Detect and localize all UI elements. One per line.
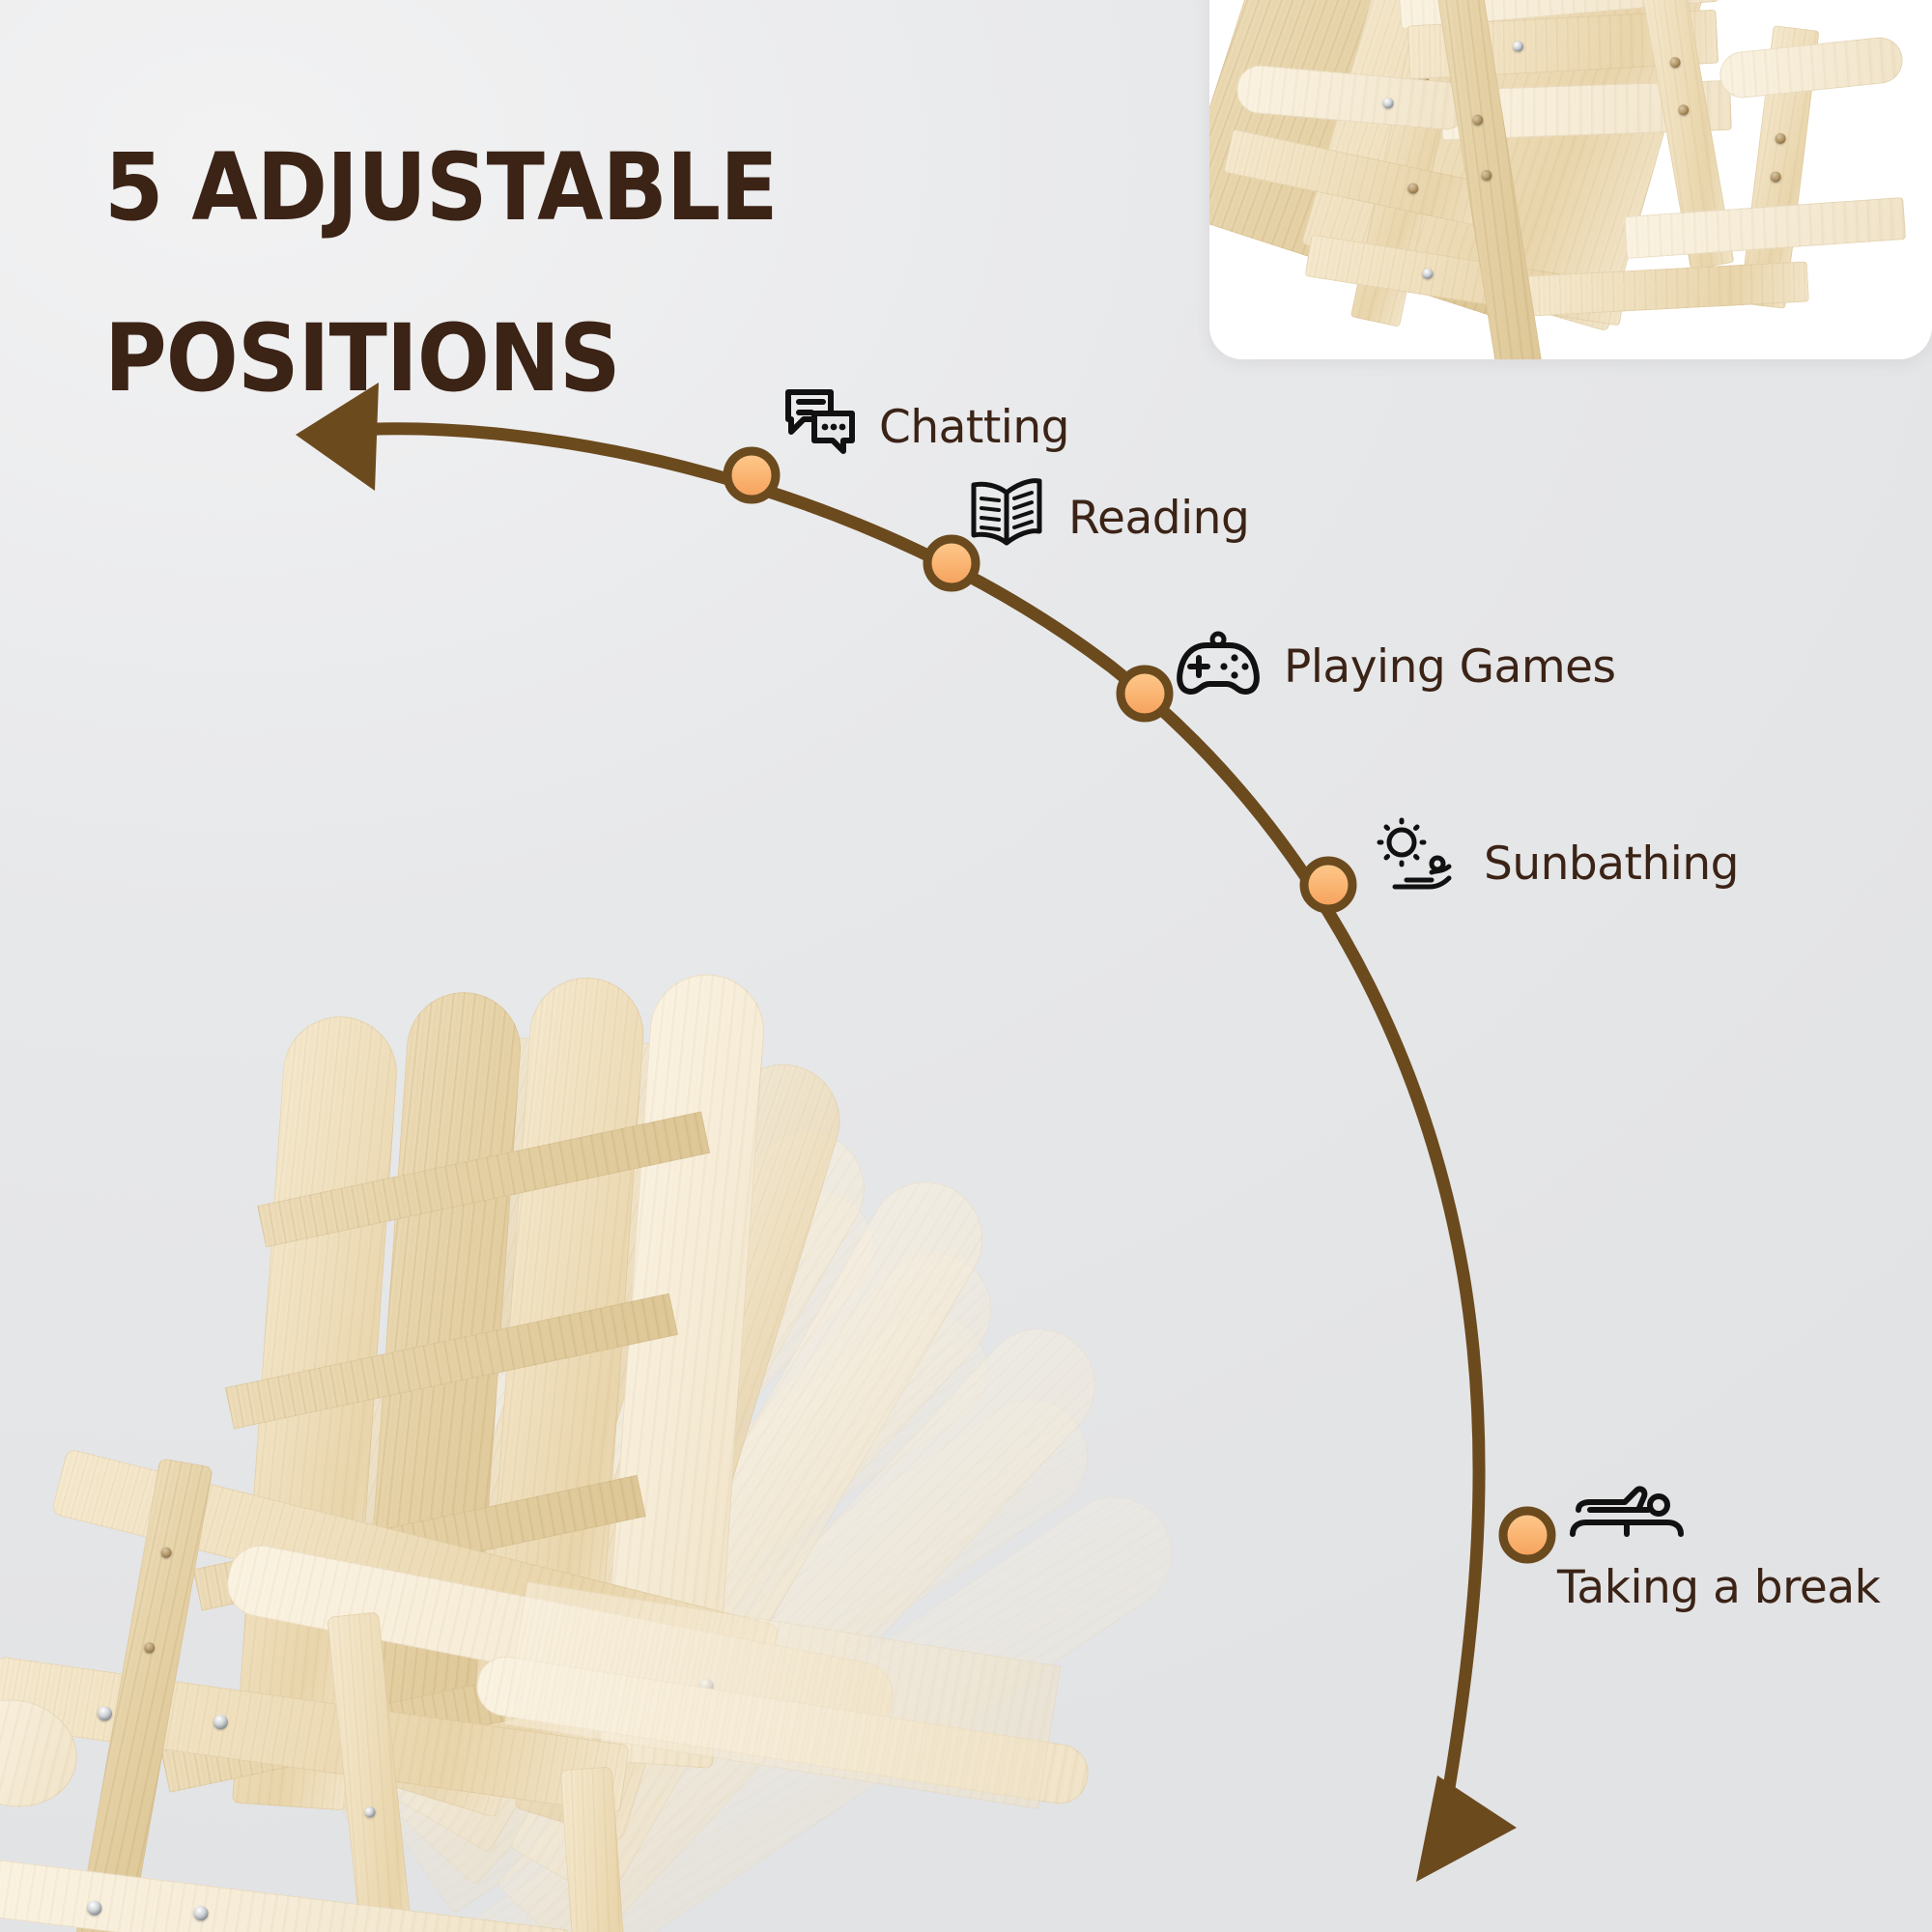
sun-lounger-icon <box>1370 816 1463 911</box>
chat-bubbles-icon <box>782 386 858 468</box>
person-lying-icon <box>1567 1480 1690 1551</box>
inset-photo-panel <box>1209 0 1932 359</box>
position-dot-taking-break[interactable] <box>1503 1511 1551 1559</box>
page-title-line-2: POSITIONS <box>104 316 778 401</box>
position-dot-sunbathing[interactable] <box>1304 861 1352 909</box>
position-label-text: Playing Games <box>1284 640 1616 694</box>
gamepad-icon <box>1174 626 1263 707</box>
page-title: 5 ADJUSTABLE POSITIONS <box>104 60 778 487</box>
chair-mechanism-photo <box>1209 0 1932 359</box>
position-label-chatting: Chatting <box>782 386 1069 468</box>
main-product-photo <box>0 415 1111 1932</box>
position-label-text: Sunbathing <box>1484 838 1739 891</box>
position-label-sunbathing: Sunbathing <box>1370 816 1739 911</box>
open-book-icon <box>966 475 1047 560</box>
position-label-playing-games: Playing Games <box>1174 626 1616 707</box>
position-label-taking-break: Taking a break <box>1557 1480 1880 1614</box>
position-dot-playing-games[interactable] <box>1121 669 1169 718</box>
position-label-reading: Reading <box>966 475 1249 560</box>
position-label-text: Reading <box>1068 492 1249 545</box>
arrow-head-bottom <box>1416 1776 1517 1882</box>
infographic-canvas: 5 ADJUSTABLE POSITIONS Chatting <box>0 0 1932 1932</box>
page-title-line-1: 5 ADJUSTABLE <box>104 145 778 230</box>
position-label-text: Taking a break <box>1557 1561 1880 1614</box>
position-label-text: Chatting <box>879 401 1069 454</box>
